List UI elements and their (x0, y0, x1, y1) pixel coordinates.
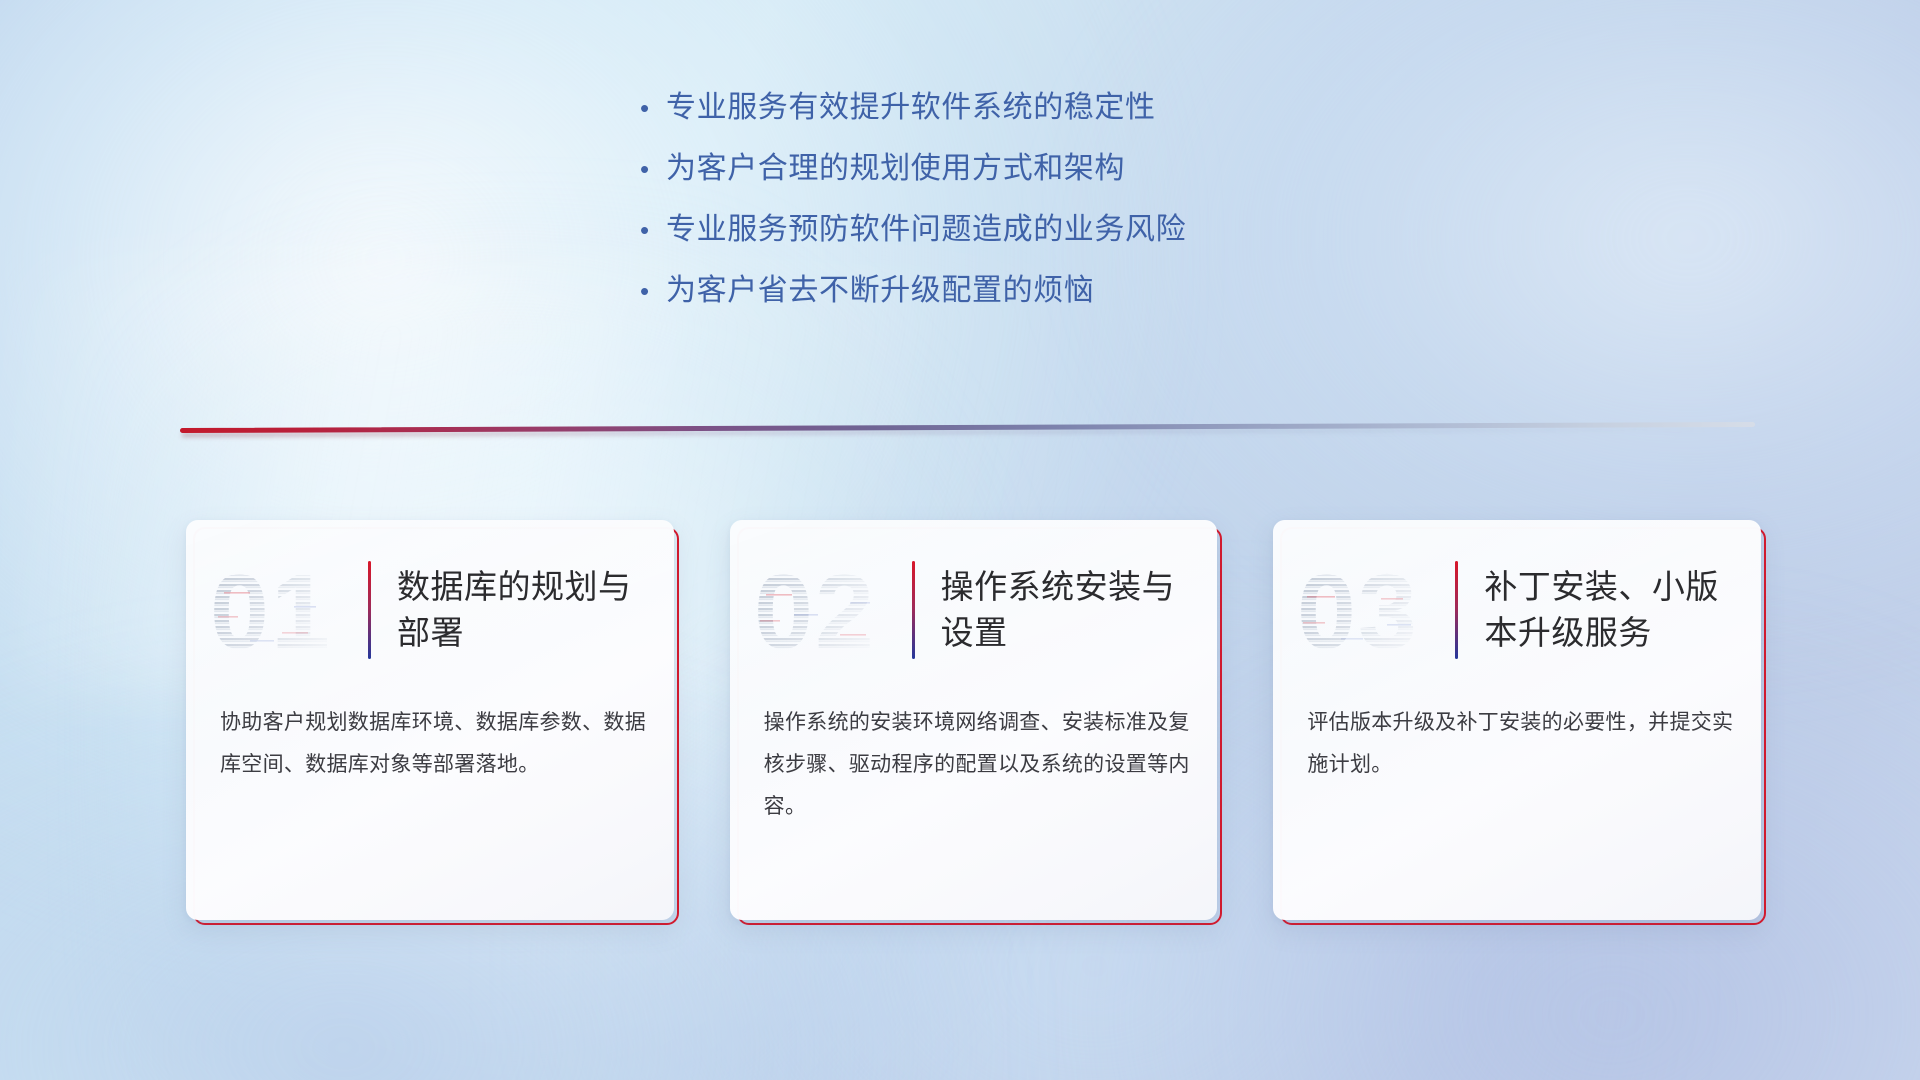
bullet-dot-icon: • (640, 271, 666, 311)
bullet-text: 为客户合理的规划使用方式和架构 (666, 149, 1125, 189)
bullet-item: • 为客户合理的规划使用方式和架构 (640, 149, 1460, 189)
card-header: 03 补丁安装、小版本升级服务 (1273, 550, 1761, 670)
benefits-bullet-list: • 专业服务有效提升软件系统的稳定性 • 为客户合理的规划使用方式和架构 • 专… (640, 88, 1460, 332)
card-title: 操作系统安装与设置 (941, 564, 1218, 656)
svg-text:02: 02 (754, 554, 876, 666)
bullet-dot-icon: • (640, 210, 666, 250)
card-description: 协助客户规划数据库环境、数据库参数、数据库空间、数据库对象等部署落地。 (220, 702, 648, 786)
card-header: 02 操作系统安装与设置 (730, 550, 1218, 670)
service-card[interactable]: 03 补丁安装、小版本升级服务 (1273, 520, 1761, 920)
presentation-slide: • 专业服务有效提升软件系统的稳定性 • 为客户合理的规划使用方式和架构 • 专… (0, 0, 1920, 1080)
bullet-item: • 专业服务有效提升软件系统的稳定性 (640, 88, 1460, 128)
card-title: 数据库的规划与部署 (397, 564, 674, 656)
card-divider-rule (1455, 561, 1458, 659)
bullet-dot-icon: • (640, 149, 666, 189)
card-number-graphic: 02 (754, 554, 906, 666)
bullet-text: 专业服务预防软件问题造成的业务风险 (666, 210, 1186, 250)
card-surface: 03 补丁安装、小版本升级服务 (1273, 520, 1761, 920)
section-divider (180, 424, 1755, 440)
svg-text:03: 03 (1297, 554, 1419, 666)
service-card-row: 01 数据库的规划与部署 (186, 520, 1761, 920)
card-surface: 01 数据库的规划与部署 (186, 520, 674, 920)
card-divider-rule (912, 561, 915, 659)
bullet-text: 专业服务有效提升软件系统的稳定性 (666, 88, 1156, 128)
service-card[interactable]: 01 数据库的规划与部署 (186, 520, 674, 920)
service-card[interactable]: 02 操作系统安装与设置 (730, 520, 1218, 920)
bullet-text: 为客户省去不断升级配置的烦恼 (666, 271, 1094, 311)
card-title: 补丁安装、小版本升级服务 (1484, 564, 1761, 656)
bullet-dot-icon: • (640, 88, 666, 128)
card-number-graphic: 03 (1297, 554, 1449, 666)
card-description: 操作系统的安装环境网络调查、安装标准及复核步骤、驱动程序的配置以及系统的设置等内… (764, 702, 1192, 828)
card-surface: 02 操作系统安装与设置 (730, 520, 1218, 920)
svg-text:01: 01 (210, 554, 332, 666)
card-divider-rule (368, 561, 371, 659)
bullet-item: • 专业服务预防软件问题造成的业务风险 (640, 210, 1460, 250)
bullet-item: • 为客户省去不断升级配置的烦恼 (640, 271, 1460, 311)
card-number-graphic: 01 (210, 554, 362, 666)
card-header: 01 数据库的规划与部署 (186, 550, 674, 670)
card-description: 评估版本升级及补丁安装的必要性，并提交实施计划。 (1307, 702, 1735, 786)
